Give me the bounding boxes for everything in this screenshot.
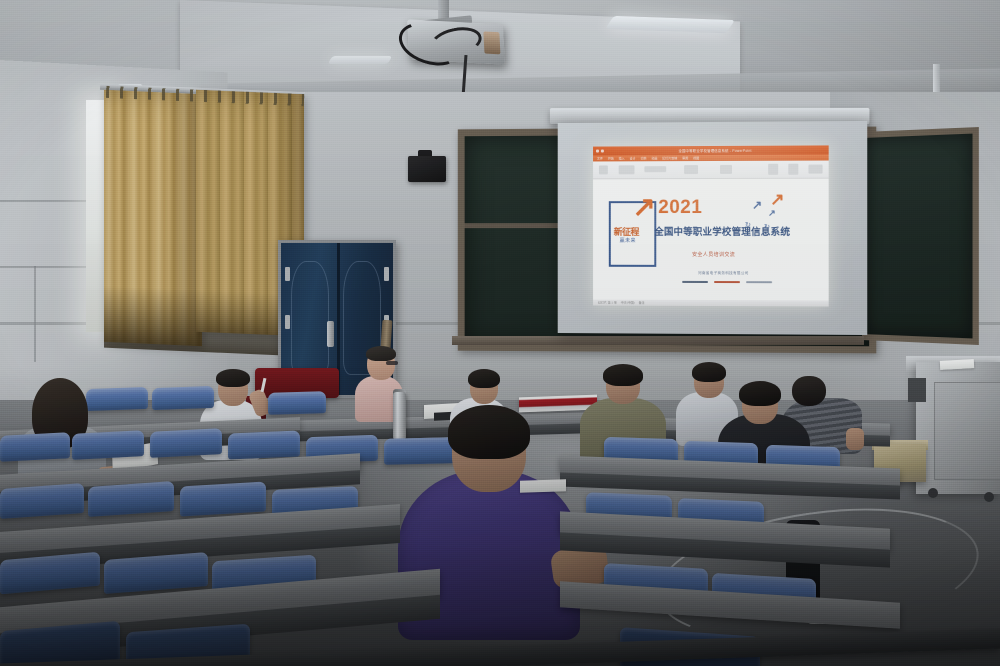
cabinet-wheel — [984, 492, 994, 502]
ribbon-tab-file[interactable]: 文件 — [597, 156, 603, 160]
seat-row-3[interactable] — [384, 437, 456, 465]
cabinet-opening — [908, 378, 926, 402]
person-hair — [216, 369, 250, 387]
door-hinge — [285, 267, 290, 281]
slide-year: 2021 — [658, 197, 702, 219]
toolbar-paragraph-icon[interactable] — [644, 166, 666, 172]
toolbar-shapes-icon[interactable] — [684, 165, 698, 174]
toolbar-font-icon[interactable] — [619, 165, 635, 174]
wall-seam — [34, 266, 36, 362]
slide-decor-swirl-icon: ↻ — [764, 224, 770, 231]
slide-footer: 河南省电子商务科技有限公司 — [698, 271, 749, 276]
wall-seam — [0, 200, 96, 202]
toolbar-arrange-icon[interactable] — [720, 165, 732, 174]
ribbon-tab-transitions[interactable]: 切换 — [640, 156, 646, 160]
person-hair — [692, 362, 726, 382]
slide-arrow-icon: ↗ — [633, 193, 656, 221]
fluorescent-tube-light-icon — [328, 56, 393, 64]
ribbon-tab-view[interactable]: 视图 — [693, 156, 699, 160]
person-arm — [846, 428, 864, 450]
door-panel — [291, 261, 329, 375]
ribbon-tab-review[interactable]: 审阅 — [682, 156, 688, 160]
status-notes[interactable]: 备注 — [639, 301, 645, 305]
status-language: 中文(中国) — [621, 301, 635, 305]
person-hair — [739, 381, 781, 406]
projection-screen: 全国中等职业学校管理信息系统 - PowerPoint 文件 开始 插入 设计 … — [558, 121, 868, 335]
seat-row-3[interactable] — [228, 430, 300, 459]
door-handle[interactable] — [327, 321, 334, 347]
blackboard-right-panel — [862, 127, 979, 345]
ribbon-tab-animations[interactable]: 动画 — [651, 156, 657, 160]
projector-lens-icon — [483, 31, 500, 54]
wall-seam — [0, 266, 96, 268]
powerpoint-window-title: 全国中等职业学校管理信息系统 - PowerPoint — [606, 147, 826, 153]
slide-rule — [714, 281, 740, 283]
slide-decor-arrow-icon: ↗ — [770, 191, 784, 208]
person-hair — [366, 346, 396, 361]
seat-row-4[interactable] — [0, 483, 84, 519]
paper-on-cabinet — [940, 359, 974, 370]
titlebar-icon — [601, 150, 604, 153]
slide-decor-arrow-icon: ↗ — [752, 199, 762, 211]
ribbon-tab-slideshow[interactable]: 幻灯片放映 — [662, 156, 677, 160]
classroom-photo-scene: 全国中等职业学校管理信息系统 - PowerPoint 文件 开始 插入 设计 … — [0, 0, 1000, 666]
slide-rule — [682, 281, 708, 283]
slide-decor-arrow-icon: ↗ — [768, 209, 776, 218]
toolbar-find-icon[interactable] — [788, 164, 798, 175]
toolbar-quickstyles-icon[interactable] — [768, 164, 778, 175]
blackboard-chalk-ledge — [452, 336, 864, 345]
status-slide-number: 幻灯片 第 1 张 — [598, 300, 617, 304]
powerpoint-toolbar[interactable] — [593, 161, 829, 180]
seat-row-4[interactable] — [180, 481, 266, 516]
seat-row-2[interactable] — [86, 387, 148, 411]
seat-row-2[interactable] — [152, 386, 214, 410]
thermos-flask — [393, 392, 406, 439]
slide-rule — [746, 281, 772, 283]
cabinet-door[interactable] — [934, 382, 1000, 480]
person-hair — [468, 369, 500, 388]
seat-row-3[interactable] — [150, 428, 222, 458]
ribbon-tab-design[interactable]: 设计 — [630, 156, 636, 160]
person-glasses-icon — [386, 361, 398, 365]
toolbar-select-icon[interactable] — [808, 165, 822, 174]
door-hinge — [384, 267, 389, 281]
person-hair — [448, 405, 530, 459]
paper-on-desk — [520, 479, 566, 493]
seat-row-4[interactable] — [88, 481, 174, 517]
slide-logo-subtext: 赢未来 — [620, 237, 636, 244]
person-hair — [603, 364, 643, 386]
door-hinge — [285, 315, 290, 329]
curtain-shadow — [104, 286, 304, 357]
ribbon-tab-home[interactable]: 开始 — [608, 156, 614, 160]
seat-row-3[interactable] — [0, 432, 70, 462]
wall-speaker — [408, 156, 446, 182]
slide-canvas: ↗ 新征程 赢未来 2021 全国中等职业学校管理信息系统 安全人员培训交流 河… — [593, 179, 829, 307]
powerpoint-statusbar: 幻灯片 第 1 张 中文(中国) 备注 — [593, 299, 829, 306]
cabinet-wheel — [928, 488, 938, 498]
powerpoint-window: 全国中等职业学校管理信息系统 - PowerPoint 文件 开始 插入 设计 … — [593, 145, 829, 306]
slide-subtitle: 安全人员培训交流 — [692, 251, 735, 258]
toolbar-paste-icon[interactable] — [599, 165, 608, 174]
person-head — [792, 376, 826, 406]
ribbon-tab-insert[interactable]: 插入 — [619, 156, 625, 160]
seat-row-3[interactable] — [72, 430, 144, 460]
seat-row-2[interactable] — [268, 391, 326, 415]
titlebar-icon — [596, 150, 599, 153]
slide-decor-swirl-icon: ↻ — [745, 222, 751, 229]
